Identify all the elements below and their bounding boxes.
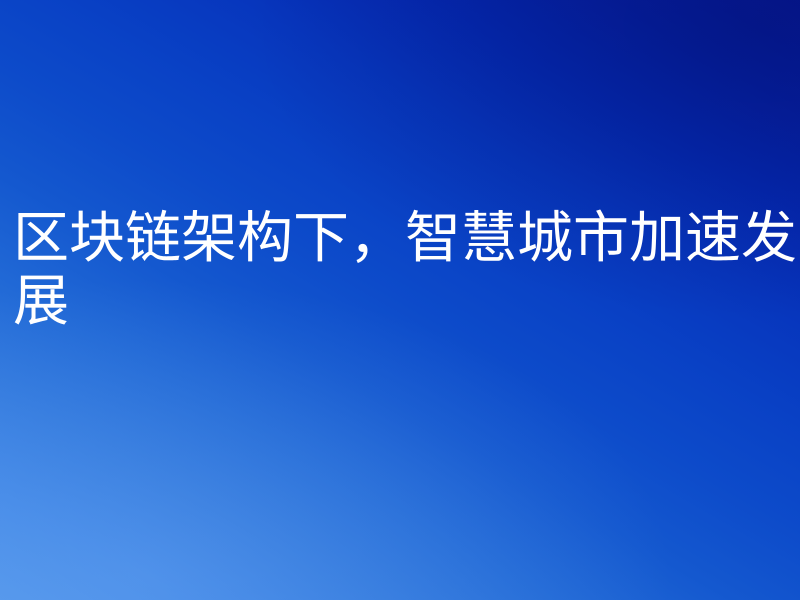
headline-block: 区块链架构下，智慧城市加速发展 [13, 206, 800, 332]
banner-hero: 区块链架构下，智慧城市加速发展 [0, 0, 800, 600]
banner-headline: 区块链架构下，智慧城市加速发展 [13, 206, 800, 332]
